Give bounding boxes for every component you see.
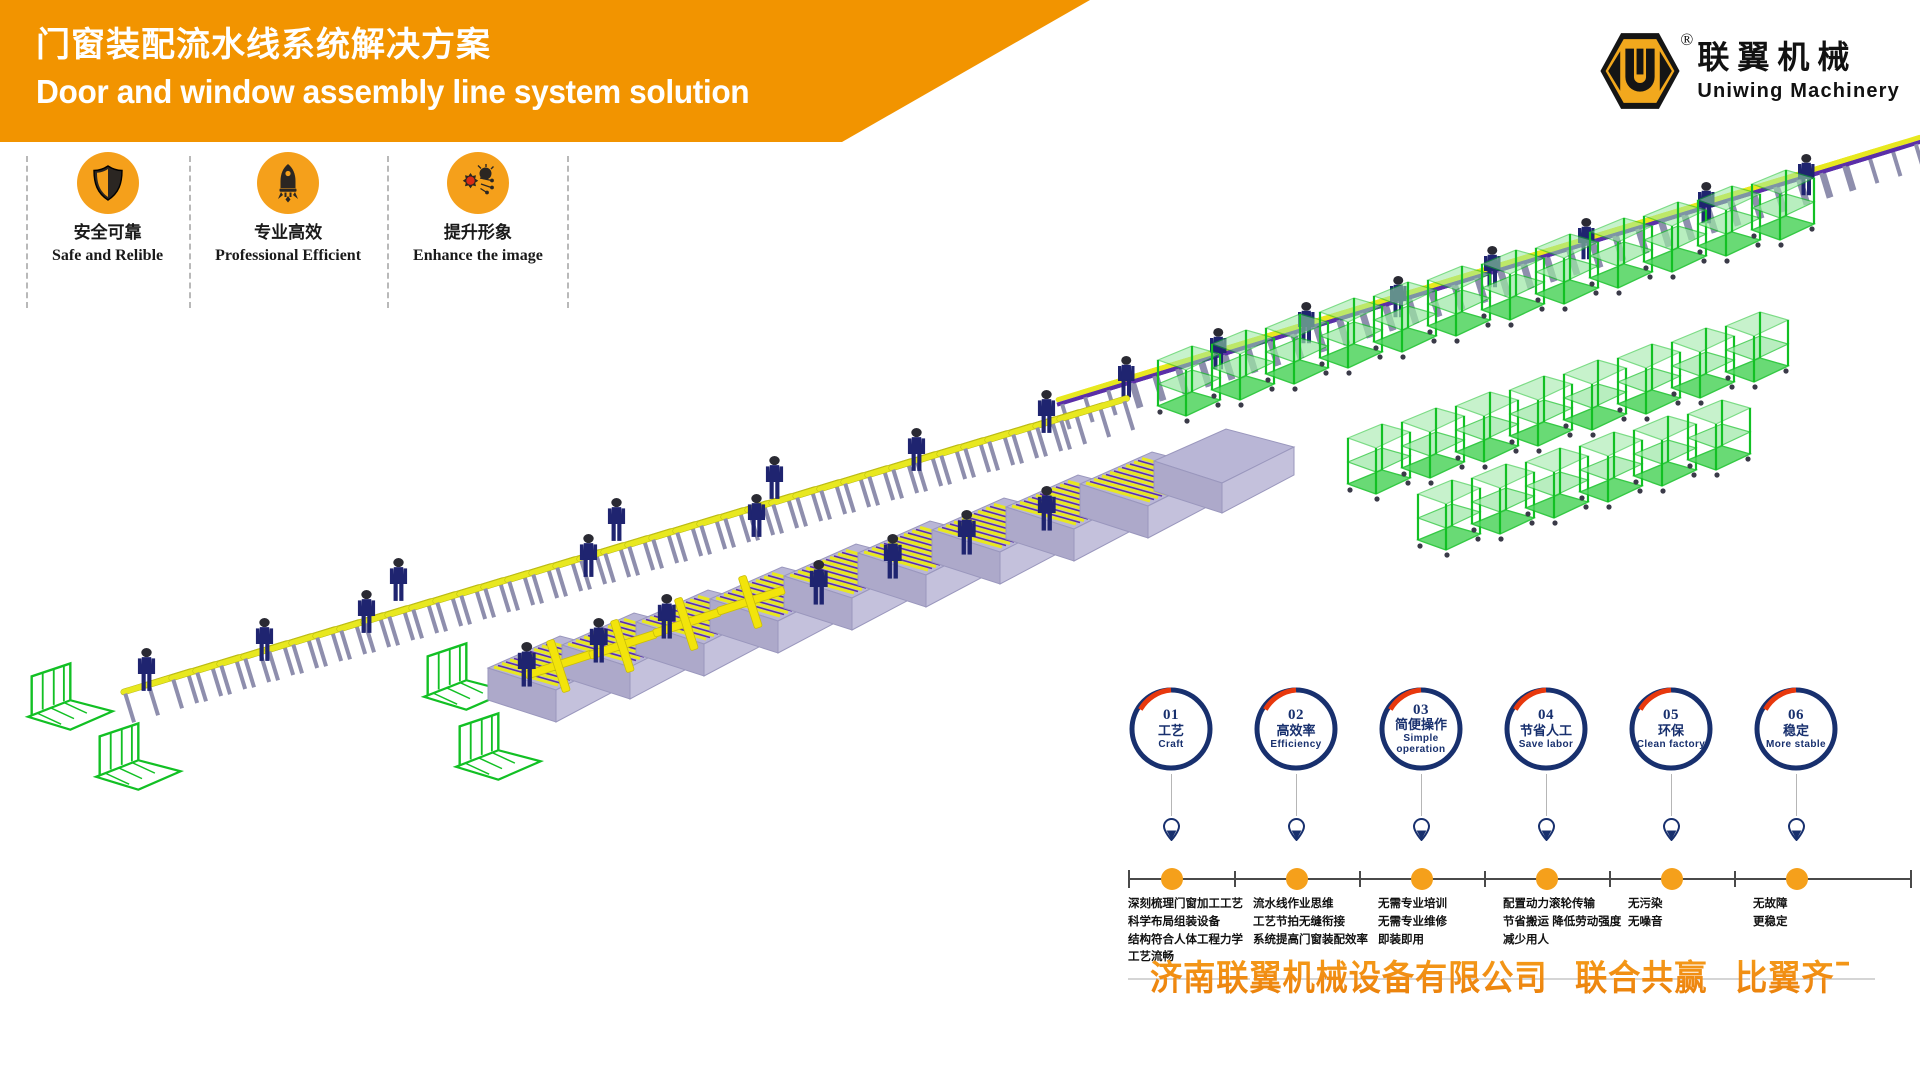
benefit-circle-05[interactable]: 05 环保 Clean factory	[1628, 686, 1714, 772]
timeline-tick	[1234, 871, 1236, 887]
footer-slogan-1: 联合共赢	[1575, 950, 1707, 1001]
benefit-title-en: Simple operation	[1386, 733, 1456, 755]
footer-slogan: 济南联翼机械设备有限公司 联合共赢 比翼齐飞	[1150, 950, 1849, 1000]
benefit-circle-02[interactable]: 02 高效率 Efficiency	[1253, 686, 1339, 772]
timeline-tick	[1609, 871, 1611, 887]
benefit-title-cn: 环保	[1658, 724, 1684, 739]
benefit-title-cn: 工艺	[1158, 724, 1184, 739]
map-pin-icon	[1788, 818, 1805, 841]
brand-name-cn: 联翼机械	[1697, 39, 1900, 76]
timeline-tick	[1734, 871, 1736, 887]
map-pin-icon	[1163, 818, 1180, 841]
benefit-desc-06: 无故障 更稳定	[1753, 896, 1903, 932]
timeline-node[interactable]	[1661, 868, 1683, 890]
timeline-node[interactable]	[1286, 868, 1308, 890]
a-frame-rack	[28, 663, 113, 729]
benefit-title-en: Save labor	[1519, 739, 1574, 750]
benefit-title-en: Clean factory	[1637, 739, 1706, 750]
worker-figure	[608, 498, 625, 541]
leader-line	[1546, 774, 1547, 816]
timeline-node[interactable]	[1786, 868, 1808, 890]
map-pin-icon	[1663, 818, 1680, 841]
footer-slogan-2: 比翼齐飞	[1735, 950, 1867, 1001]
timeline-tick	[1484, 871, 1486, 887]
benefit-desc-line: 更稳定	[1753, 914, 1903, 932]
page-title-cn: 门窗装配流水线系统解决方案	[36, 24, 936, 67]
benefit-circle-04[interactable]: 04 节省人工 Save labor	[1503, 686, 1589, 772]
benefit-title-cn: 节省人工	[1520, 724, 1572, 739]
benefit-title-en: Efficiency	[1270, 739, 1321, 750]
benefit-circle-06[interactable]: 06 稳定 More stable	[1753, 686, 1839, 772]
timeline-node[interactable]	[1411, 868, 1433, 890]
benefit-desc-line: 减少用人	[1503, 932, 1653, 950]
a-frame-rack	[456, 713, 541, 779]
timeline-node[interactable]	[1536, 868, 1558, 890]
leader-line	[1171, 774, 1172, 816]
benefit-title-cn: 简便操作	[1395, 718, 1447, 733]
timeline-axis-start-cap	[1128, 870, 1130, 888]
hexagon-u-logo-icon: ®	[1597, 28, 1683, 114]
leader-line	[1671, 774, 1672, 816]
leader-line	[1796, 774, 1797, 816]
benefit-number: 02	[1288, 708, 1304, 724]
a-frame-rack	[96, 723, 181, 789]
benefit-number: 05	[1663, 708, 1679, 724]
benefit-title-en: Craft	[1158, 739, 1183, 750]
benefit-number: 01	[1163, 708, 1179, 724]
leader-line	[1296, 774, 1297, 816]
header-text-block: 门窗装配流水线系统解决方案 Door and window assembly l…	[36, 24, 936, 112]
benefit-circle-row: 01 工艺 Craft 02 高效率 Efficiency	[1128, 686, 1912, 786]
benefits-timeline: 01 工艺 Craft 02 高效率 Efficiency	[1128, 686, 1912, 976]
benefit-number: 03	[1413, 703, 1429, 719]
benefit-number: 04	[1538, 708, 1554, 724]
timeline-node[interactable]	[1161, 868, 1183, 890]
map-pin-icon	[1413, 818, 1430, 841]
map-pin-icon	[1288, 818, 1305, 841]
benefit-title-cn: 高效率	[1276, 724, 1315, 739]
timeline-tick	[1359, 871, 1361, 887]
registered-trademark-icon: ®	[1680, 30, 1693, 50]
benefit-desc-line: 无故障	[1753, 896, 1903, 914]
timeline-axis-end-cap	[1910, 870, 1912, 888]
benefit-title-cn: 稳定	[1783, 724, 1809, 739]
poster-root: 门窗装配流水线系统解决方案 Door and window assembly l…	[0, 0, 1920, 1080]
worker-figure	[766, 456, 783, 499]
footer-company-name: 济南联翼机械设备有限公司	[1150, 950, 1547, 1001]
benefit-circle-01[interactable]: 01 工艺 Craft	[1128, 686, 1214, 772]
brand-name-en: Uniwing Machinery	[1697, 79, 1900, 103]
brand-logo: ® 联翼机械 Uniwing Machinery	[1597, 28, 1900, 114]
brand-name-block: 联翼机械 Uniwing Machinery	[1697, 39, 1900, 104]
benefit-number: 06	[1788, 708, 1804, 724]
page-title-en: Door and window assembly line system sol…	[36, 71, 900, 112]
worker-figure	[390, 558, 407, 601]
leader-line	[1421, 774, 1422, 816]
benefit-circle-03[interactable]: 03 简便操作 Simple operation	[1378, 686, 1464, 772]
benefit-title-en: More stable	[1766, 739, 1826, 750]
map-pin-icon	[1538, 818, 1555, 841]
